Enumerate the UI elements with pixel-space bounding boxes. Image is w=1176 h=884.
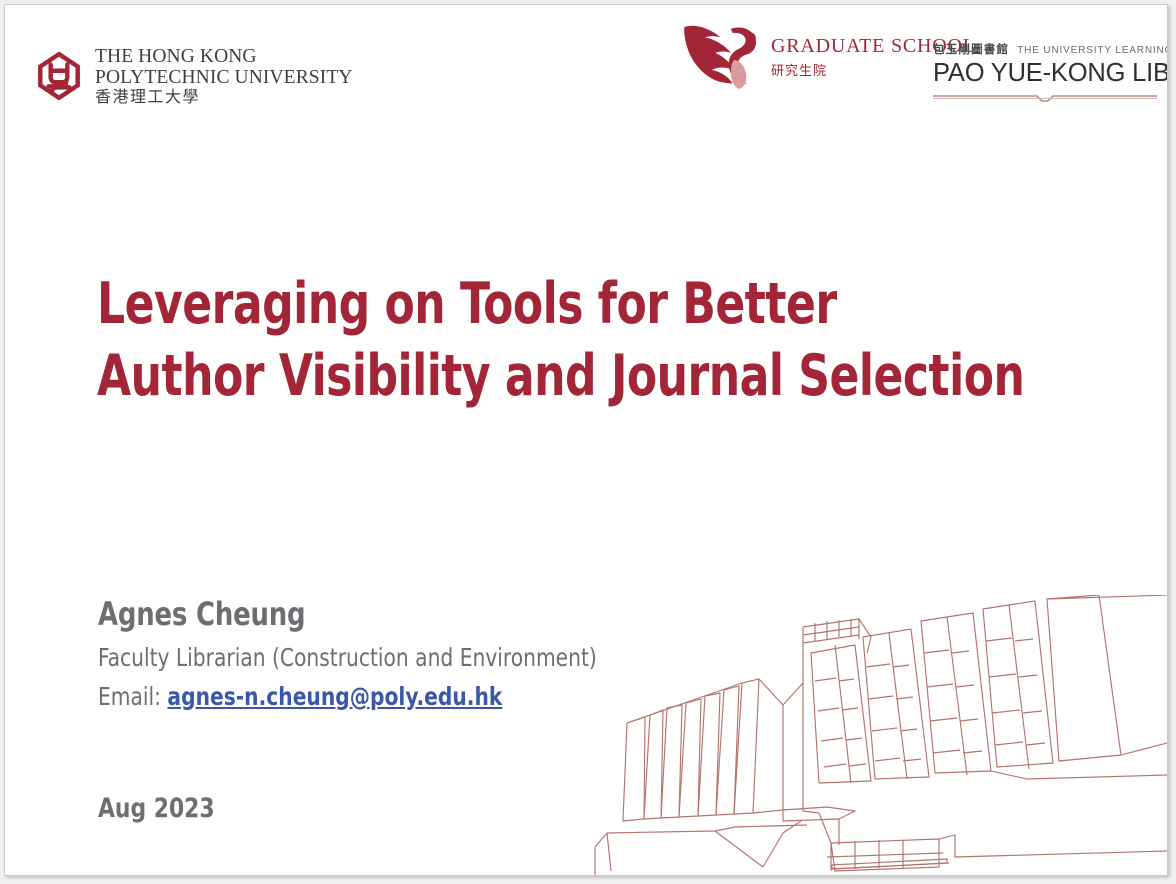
polyu-name-line2: POLYTECHNIC UNIVERSITY xyxy=(95,68,353,88)
polyu-logo: THE HONG KONG POLYTECHNIC UNIVERSITY 香港理… xyxy=(33,47,353,105)
polyu-name-chinese: 香港理工大學 xyxy=(95,89,353,105)
presenter-email-row: Email: agnes-n.cheung@poly.edu.hk xyxy=(98,678,597,716)
presenter-info: Agnes Cheung Faculty Librarian (Construc… xyxy=(98,594,652,826)
slide-root: THE HONG KONG POLYTECHNIC UNIVERSITY 香港理… xyxy=(0,0,1176,884)
presentation-date: Aug 2023 xyxy=(98,792,597,826)
pao-yue-kong-library-logo: 包玉剛圖書館 THE UNIVERSITY LEARNING HUB PAO Y… xyxy=(933,41,1157,103)
polyu-knot-emblem-icon xyxy=(33,51,85,101)
graduate-school-logo: GRADUATE SCHOOL 研究生院 xyxy=(681,15,976,95)
library-name-english: PAO YUE-KONG LIBRARY xyxy=(933,59,1157,88)
presenter-name: Agnes Cheung xyxy=(98,594,597,634)
presenter-email-link[interactable]: agnes-n.cheung@poly.edu.hk xyxy=(167,682,502,711)
title-slide: THE HONG KONG POLYTECHNIC UNIVERSITY 香港理… xyxy=(4,4,1168,876)
title-line-2: Author Visibility and Journal Selection xyxy=(97,340,957,412)
polyu-wordmark: THE HONG KONG POLYTECHNIC UNIVERSITY 香港理… xyxy=(95,47,353,105)
presenter-role: Faculty Librarian (Construction and Envi… xyxy=(98,638,597,678)
library-name-chinese: 包玉剛圖書館 xyxy=(933,41,1009,57)
polyu-campus-building-line-art-icon xyxy=(587,595,1167,875)
winged-phoenix-emblem-icon xyxy=(681,15,767,95)
title-line-1: Leveraging on Tools for Better xyxy=(97,268,957,340)
library-tagline: THE UNIVERSITY LEARNING HUB xyxy=(1017,45,1168,56)
polyu-name-line1: THE HONG KONG xyxy=(95,47,353,67)
notched-divider-rule-icon xyxy=(933,91,1157,103)
slide-title: Leveraging on Tools for Better Author Vi… xyxy=(97,268,1097,412)
library-logo-toprow: 包玉剛圖書館 THE UNIVERSITY LEARNING HUB xyxy=(933,41,1157,57)
email-label: Email: xyxy=(98,682,161,711)
